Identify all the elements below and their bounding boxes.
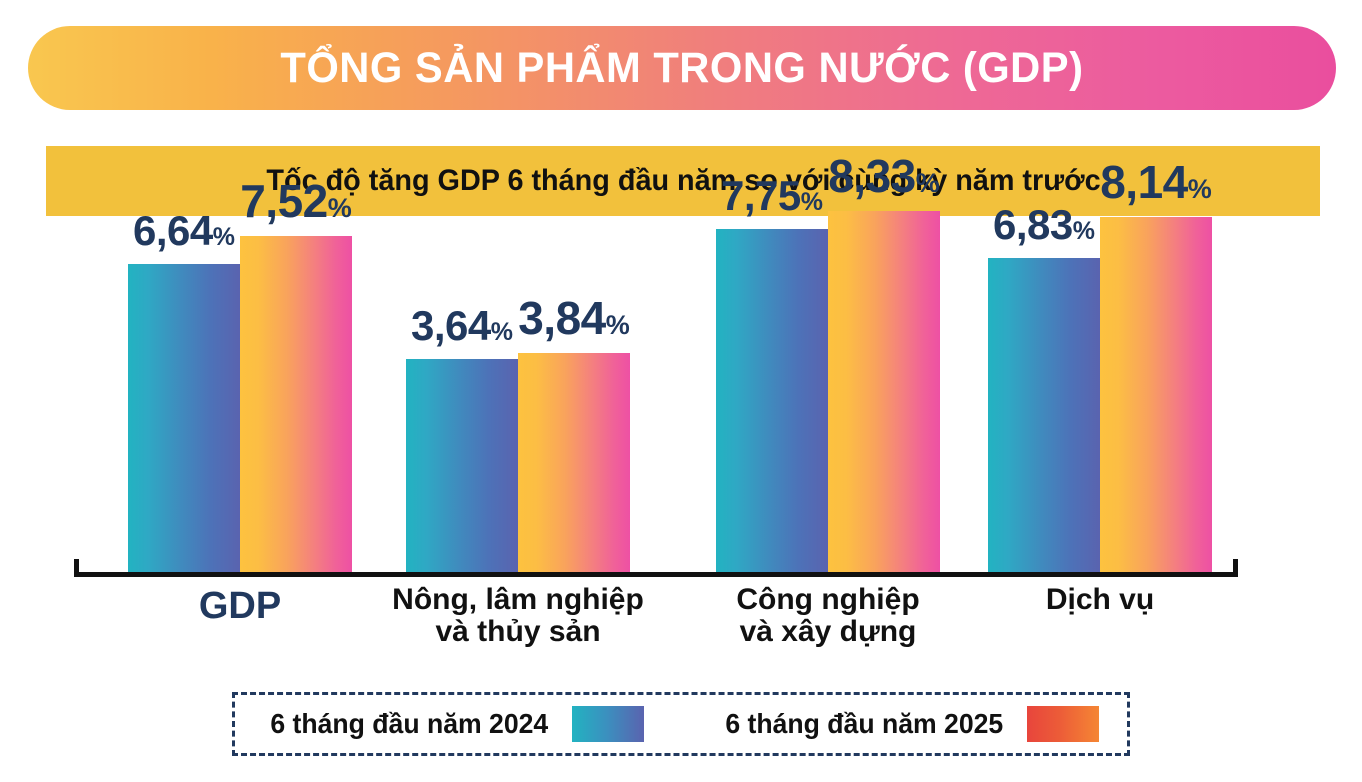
bar-2025-2 xyxy=(828,211,940,574)
bar-value-label-2024-0: 6,64% xyxy=(133,210,235,252)
bar-value-label-2025-1: 3,84% xyxy=(518,295,630,341)
bar-2024-3 xyxy=(988,258,1100,574)
legend-label-2025: 6 tháng đầu năm 2025 xyxy=(725,708,1003,740)
legend-swatch-2025 xyxy=(1027,706,1099,742)
bar-value-label-2024-3: 6,83% xyxy=(993,204,1095,246)
bar-2025-3 xyxy=(1100,217,1212,574)
bar-value-label-2025-2: 8,33% xyxy=(828,153,940,199)
category-label-3: Dịch vụ xyxy=(920,584,1280,616)
bar-2025-1 xyxy=(518,353,630,574)
chart-plot-area: 6,64%3,64%7,75%6,83%7,52%3,84%8,33%8,14% xyxy=(0,222,1362,574)
chart-subtitle: Tốc độ tăng GDP 6 tháng đầu năm so với c… xyxy=(266,164,1100,198)
x-axis-line xyxy=(74,572,1238,577)
legend-item-2024: 6 tháng đầu năm 2024 xyxy=(263,706,644,742)
bar-2024-2 xyxy=(716,229,828,574)
title-banner: TỔNG SẢN PHẨM TRONG NƯỚC (GDP) xyxy=(28,26,1336,110)
bar-value-label-2024-2: 7,75% xyxy=(721,175,823,217)
legend-item-2025: 6 tháng đầu năm 2025 xyxy=(718,706,1099,742)
legend-label-2024: 6 tháng đầu năm 2024 xyxy=(271,708,549,740)
bar-2024-0 xyxy=(128,264,240,574)
legend-swatch-2024 xyxy=(572,706,644,742)
bar-2025-0 xyxy=(240,236,352,574)
x-axis-tick-right xyxy=(1233,559,1238,577)
x-axis-tick-left xyxy=(74,559,79,577)
chart-legend: 6 tháng đầu năm 2024 6 tháng đầu năm 202… xyxy=(232,692,1130,756)
bar-value-label-2024-1: 3,64% xyxy=(411,305,513,347)
bar-value-label-2025-0: 7,52% xyxy=(240,178,352,224)
infographic-page: TỔNG SẢN PHẨM TRONG NƯỚC (GDP) Tốc độ tă… xyxy=(0,0,1362,782)
category-label-1: Nông, lâm nghiệpvà thủy sản xyxy=(338,584,698,649)
bar-2024-1 xyxy=(406,359,518,574)
bar-value-label-2025-3: 8,14% xyxy=(1100,159,1212,205)
page-title: TỔNG SẢN PHẨM TRONG NƯỚC (GDP) xyxy=(280,44,1083,93)
